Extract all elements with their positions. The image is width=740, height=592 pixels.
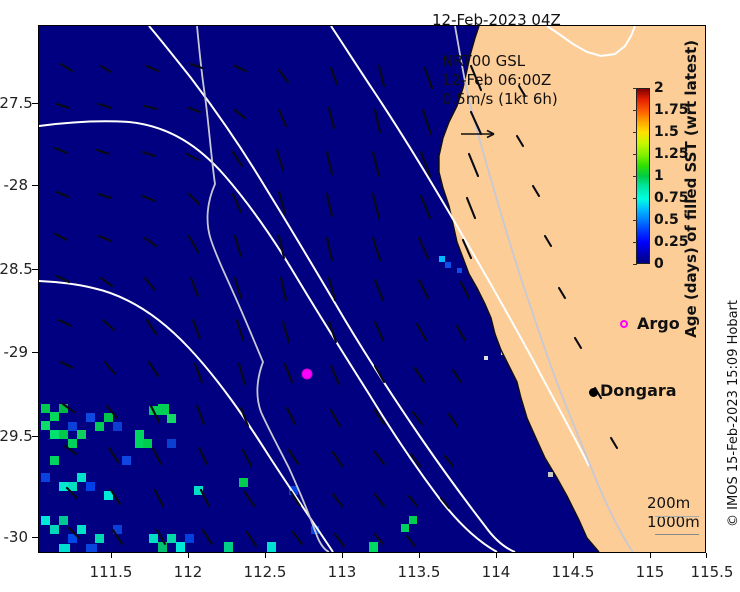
dongara-town-marker-icon: [589, 388, 598, 397]
bathy-1000m-line: [655, 534, 699, 535]
colorbar: 2 1.75 1.5 1.25 1 0.75 0.5 0.25 0: [636, 88, 650, 264]
x-tick-label: 113.5: [398, 563, 441, 581]
y-tick-label: -28: [0, 176, 28, 194]
argo-legend-label: Argo: [637, 314, 680, 333]
x-tick-label: 115: [636, 563, 665, 581]
colorbar-tick: [633, 132, 637, 133]
datestamp-label: 12-Feb-2023 04Z: [432, 11, 561, 29]
y-tick: [32, 269, 38, 270]
x-tick: [111, 553, 112, 558]
y-tick: [32, 185, 38, 186]
colorbar-tick: [633, 242, 637, 243]
right-arrow-icon: [460, 128, 500, 140]
x-tick: [265, 553, 266, 558]
y-tick: [32, 103, 38, 104]
current-product-label: NRT00 GSL: [442, 52, 558, 71]
x-tick: [650, 553, 651, 558]
y-tick: [32, 537, 38, 538]
map-canvas: [39, 26, 705, 552]
colorbar-tick-label: 1: [654, 168, 664, 184]
x-tick: [419, 553, 420, 558]
colorbar-tick-label: 2: [654, 80, 664, 96]
dongara-town-label: Dongara: [600, 381, 677, 400]
colorbar-tick: [633, 264, 637, 265]
colorbar-tick-label: 0: [654, 256, 664, 272]
y-tick-label: -30: [0, 528, 28, 546]
colorbar-tick: [633, 176, 637, 177]
copyright-label: © IMOS 15-Feb-2023 15:09 Hobart: [726, 300, 740, 527]
current-overlay-info: NRT00 GSL 12-Feb 06:00Z 0.5m/s (1kt 6h): [442, 52, 558, 109]
x-tick-label: 112: [174, 563, 203, 581]
current-valid-time-label: 12-Feb 06:00Z: [442, 71, 558, 90]
colorbar-tick: [633, 88, 637, 89]
colorbar-tick: [633, 154, 637, 155]
x-tick: [573, 553, 574, 558]
colorbar-tick: [633, 220, 637, 221]
x-tick-label: 111.5: [90, 563, 133, 581]
bathy-200m-label: 200m: [647, 494, 700, 513]
x-tick-label: 113: [328, 563, 357, 581]
argo-legend-marker-icon: [620, 320, 628, 328]
map-plot-area[interactable]: [38, 25, 706, 553]
x-tick-label: 114.5: [552, 563, 595, 581]
y-tick-label: -29: [0, 343, 28, 361]
y-tick-label: -29.5: [0, 427, 28, 445]
colorbar-title: Age (days) of filled SST (wrt latest): [682, 40, 700, 338]
x-tick-label: 114: [482, 563, 511, 581]
x-tick: [342, 553, 343, 558]
bathy-200m-line: [655, 516, 699, 517]
x-tick-label: 112.5: [244, 563, 287, 581]
x-tick: [188, 553, 189, 558]
colorbar-tick-label: 1.5: [654, 124, 679, 140]
x-tick: [496, 553, 497, 558]
y-tick-label: -27.5: [0, 94, 28, 112]
x-tick-label: 115.5: [691, 563, 734, 581]
y-tick: [32, 352, 38, 353]
x-tick: [706, 553, 707, 558]
y-tick-label: -28.5: [0, 260, 28, 278]
argo-float-marker: [302, 369, 312, 379]
colorbar-tick: [633, 110, 637, 111]
current-scale-label: 0.5m/s (1kt 6h): [442, 90, 558, 109]
colorbar-gradient: [636, 88, 650, 264]
bathymetry-legend: 200m 1000m: [647, 494, 700, 532]
colorbar-tick: [633, 198, 637, 199]
figure-root: 111.5 112 112.5 113 113.5 114 114.5 115 …: [0, 0, 740, 592]
y-tick: [32, 436, 38, 437]
colorbar-tick-label: 0.5: [654, 212, 679, 228]
